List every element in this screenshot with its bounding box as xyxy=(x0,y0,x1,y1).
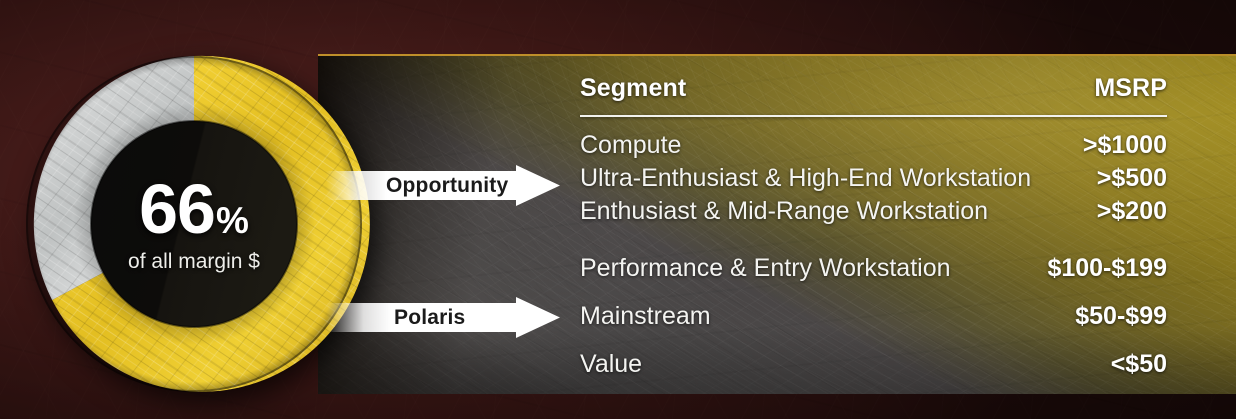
column-header-msrp: MSRP xyxy=(1094,74,1167,103)
cell-segment: Mainstream xyxy=(580,302,711,331)
cell-msrp: $50-$99 xyxy=(1075,302,1167,331)
donut-chart: 66 % of all margin $ xyxy=(18,48,370,400)
callout-arrow-opportunity: Opportunity xyxy=(326,165,560,206)
cell-msrp: >$500 xyxy=(1097,164,1167,193)
table-row: Ultra-Enthusiast & High-End Workstation … xyxy=(580,164,1167,197)
table-panel: Segment MSRP Compute >$1000 Ultra-Enthus… xyxy=(318,54,1236,394)
infographic-slide: Segment MSRP Compute >$1000 Ultra-Enthus… xyxy=(0,0,1236,419)
cell-segment: Value xyxy=(580,350,642,379)
table-group-opportunity: Compute >$1000 Ultra-Enthusiast & High-E… xyxy=(580,131,1167,230)
callout-arrow-polaris: Polaris xyxy=(326,297,560,338)
column-header-segment: Segment xyxy=(580,74,686,103)
cell-segment: Enthusiast & Mid-Range Workstation xyxy=(580,197,988,226)
table-row: Performance & Entry Workstation $100-$19… xyxy=(580,254,1167,302)
segment-msrp-table: Segment MSRP Compute >$1000 Ultra-Enthus… xyxy=(580,56,1167,394)
cell-msrp: >$1000 xyxy=(1083,131,1167,160)
table-row: Value <$50 xyxy=(580,350,1167,394)
table-row: Compute >$1000 xyxy=(580,131,1167,164)
cell-msrp: <$50 xyxy=(1111,350,1167,379)
cell-segment: Ultra-Enthusiast & High-End Workstation xyxy=(580,164,1031,193)
table-header-row: Segment MSRP xyxy=(580,74,1167,103)
cell-segment: Compute xyxy=(580,131,681,160)
cell-msrp: >$200 xyxy=(1097,197,1167,226)
callout-arrow-opportunity-label: Opportunity xyxy=(386,165,508,206)
table-header-divider xyxy=(580,115,1167,117)
table-row: Enthusiast & Mid-Range Workstation >$200 xyxy=(580,197,1167,230)
cell-segment: Performance & Entry Workstation xyxy=(580,254,951,283)
donut-inner-disc xyxy=(91,121,297,327)
callout-arrow-polaris-label: Polaris xyxy=(394,297,465,338)
cell-msrp: $100-$199 xyxy=(1047,254,1167,283)
donut-chart-svg xyxy=(18,48,370,400)
table-group-polaris: Performance & Entry Workstation $100-$19… xyxy=(580,254,1167,394)
table-row: Mainstream $50-$99 xyxy=(580,302,1167,350)
